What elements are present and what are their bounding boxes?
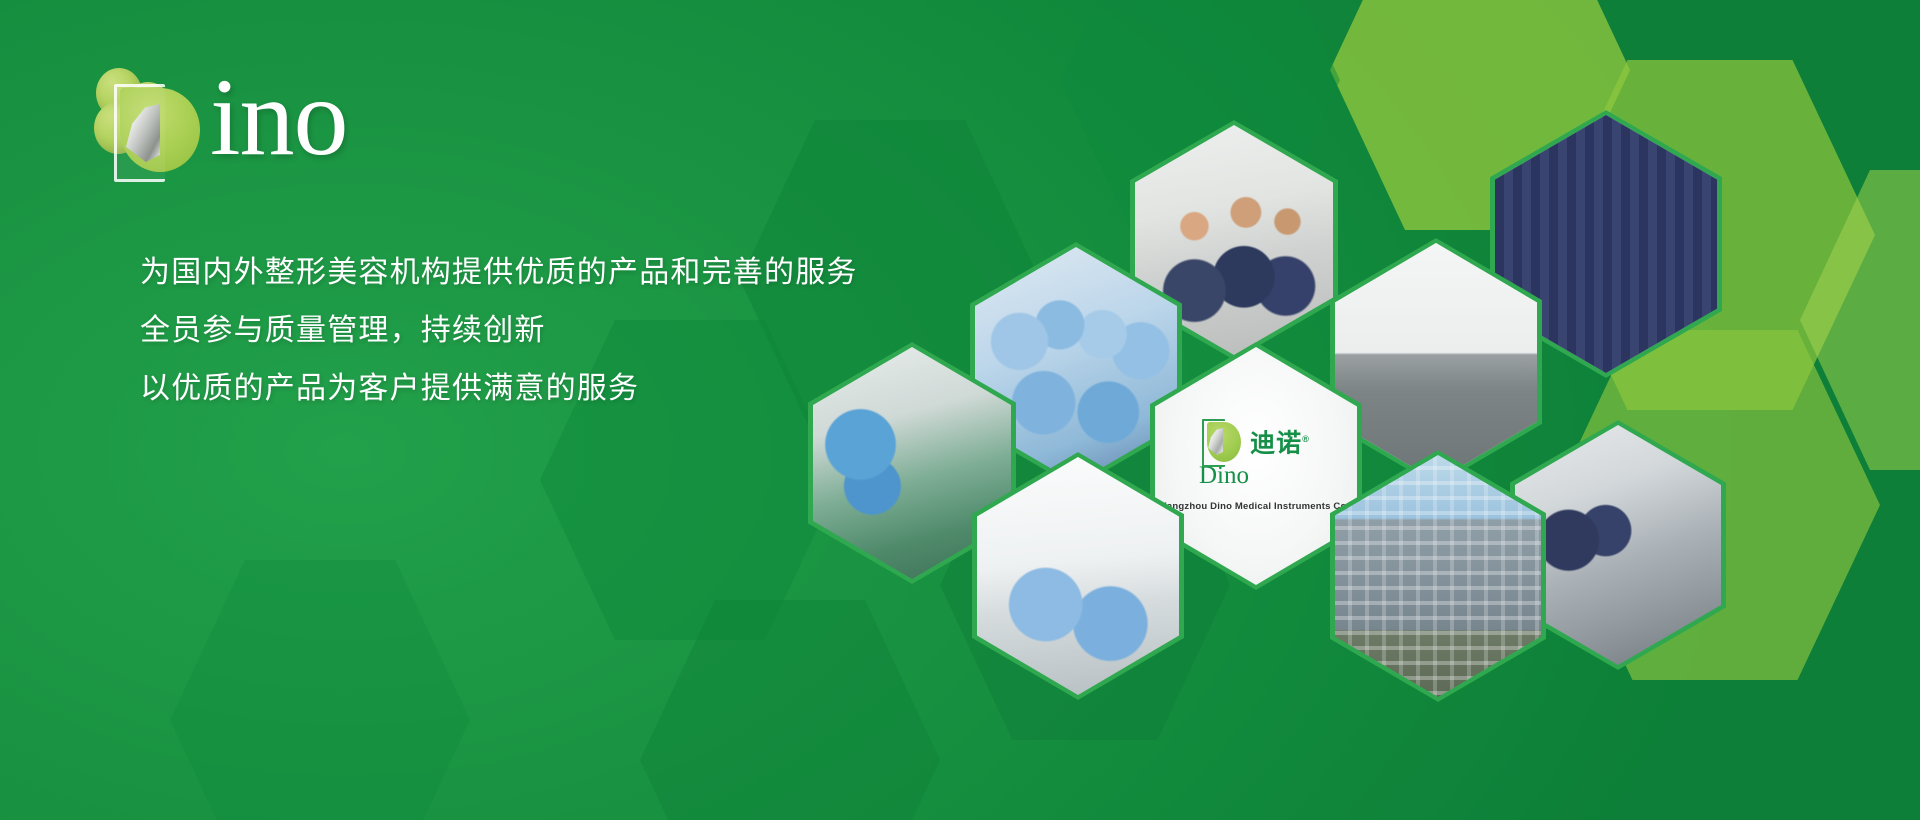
center-chinese-name: 迪诺® bbox=[1250, 427, 1310, 456]
hexagon-photo-cluster: 迪诺® Dino Hangzhou Dino Medical Instrumen… bbox=[830, 120, 1900, 700]
logo-wordmark: ino bbox=[210, 62, 348, 172]
registered-trademark-icon: ® bbox=[1302, 434, 1310, 444]
slogan-line-1: 为国内外整形美容机构提供优质的产品和完善的服务 bbox=[140, 258, 858, 288]
slogan-line-2: 全员参与质量管理，持续创新 bbox=[140, 316, 858, 346]
center-dino-leaf-icon bbox=[1202, 419, 1244, 465]
center-logo-row: 迪诺® bbox=[1202, 419, 1310, 465]
center-chinese-name-text: 迪诺 bbox=[1250, 430, 1302, 458]
logo-d-glyph bbox=[114, 84, 202, 176]
dino-leaf-logo-icon bbox=[88, 66, 208, 176]
promotional-banner: ino 为国内外整形美容机构提供优质的产品和完善的服务 全员参与质量管理，持续创… bbox=[0, 0, 1920, 820]
bg-hex-dark-bottom-left bbox=[170, 560, 470, 820]
center-english-name: Dino bbox=[1199, 464, 1249, 488]
slogan-list: 为国内外整形美容机构提供优质的产品和完善的服务 全员参与质量管理，持续创新 以优… bbox=[140, 258, 858, 432]
slogan-line-3: 以优质的产品为客户提供满意的服务 bbox=[140, 374, 858, 404]
brand-logo[interactable]: ino bbox=[88, 66, 508, 186]
center-company-line: Hangzhou Dino Medical Instruments Co.. bbox=[1160, 501, 1352, 513]
